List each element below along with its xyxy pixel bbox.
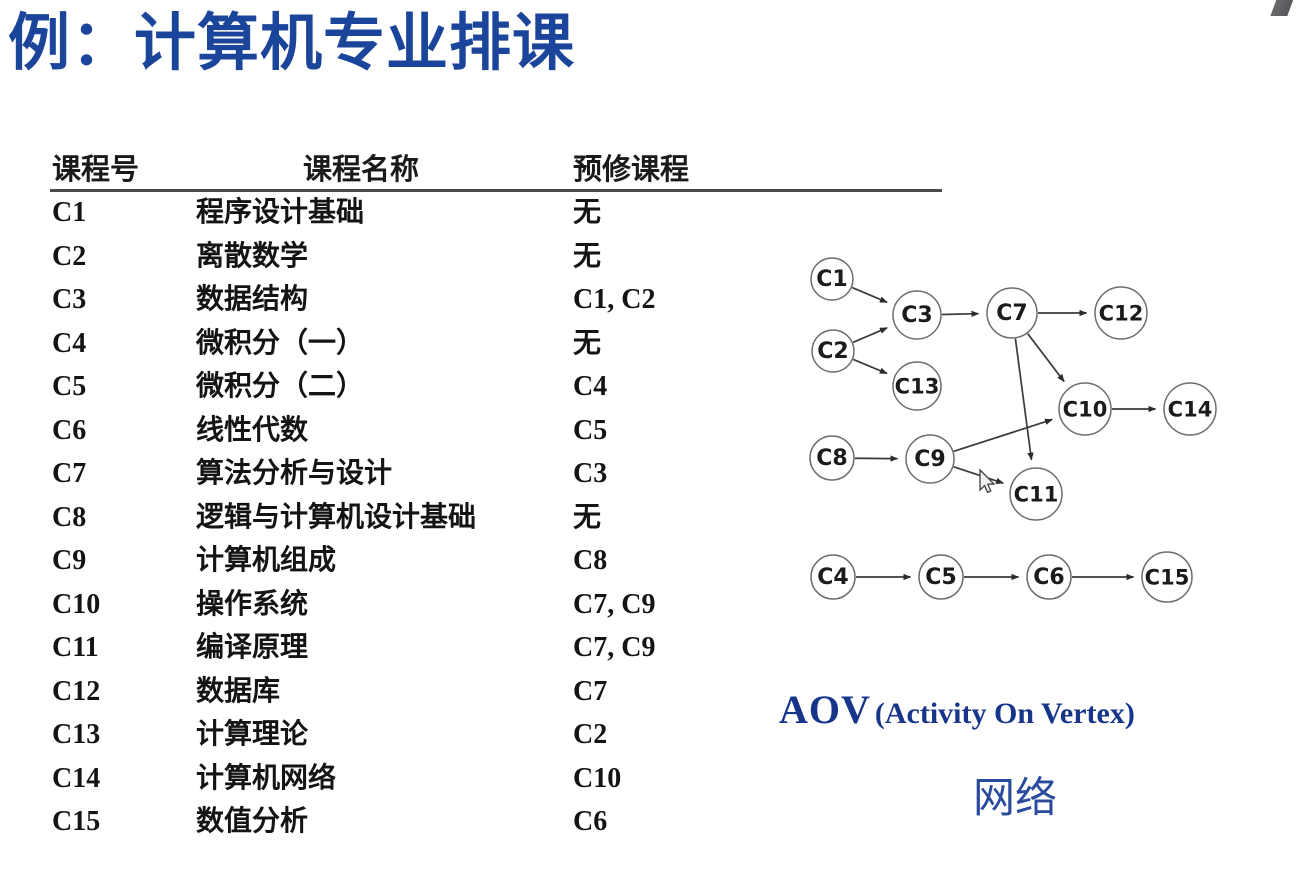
cell-prerequisite: 无 — [573, 242, 601, 272]
cell-course-name: 数据结构 — [196, 285, 308, 315]
node-label: C4 — [817, 565, 848, 590]
cell-course-name: 线性代数 — [196, 416, 308, 446]
cell-course-id: C6 — [52, 416, 86, 446]
cell-prerequisite: C7 — [573, 677, 607, 707]
cursor-arrow-icon — [980, 470, 994, 492]
cell-course-id: C4 — [52, 329, 86, 359]
node-label: C13 — [895, 375, 940, 399]
cell-course-id: C12 — [52, 677, 100, 707]
graph-edge-c2-to-c3 — [853, 328, 887, 343]
cell-course-name: 离散数学 — [196, 242, 308, 272]
aov-graph-svg: C1C2C3C13C7C12C10C14C8C9C11C4C5C6C15 — [780, 230, 1306, 630]
node-label: C7 — [996, 301, 1027, 326]
graph-node-c12[interactable]: C12 — [1095, 287, 1147, 339]
graph-node-c15[interactable]: C15 — [1142, 552, 1192, 602]
node-label: C14 — [1168, 398, 1213, 422]
cell-course-id: C1 — [52, 198, 86, 228]
cell-prerequisite: C7, C9 — [573, 633, 655, 663]
graph-edge-c9-to-c11 — [954, 467, 1004, 483]
cell-prerequisite: C1, C2 — [573, 285, 655, 315]
node-label: C5 — [925, 565, 956, 590]
column-header-course-id: 课程号 — [52, 146, 139, 188]
cell-course-id: C14 — [52, 764, 100, 794]
table-header-row: 课程号 课程名称 预修课程 — [50, 146, 942, 190]
node-label: C3 — [901, 303, 932, 328]
aov-expansion-text: (Activity On Vertex) — [875, 697, 1135, 730]
cell-course-id: C7 — [52, 459, 86, 489]
cell-course-name: 操作系统 — [196, 590, 308, 620]
graph-edge-c2-to-c13 — [853, 359, 887, 373]
node-label: C10 — [1063, 398, 1108, 422]
graph-node-c2[interactable]: C2 — [812, 330, 854, 372]
cell-course-id: C2 — [52, 242, 86, 272]
node-label: C11 — [1014, 483, 1059, 507]
cell-course-id: C11 — [52, 633, 99, 663]
cell-prerequisite: C7, C9 — [573, 590, 655, 620]
cell-course-id: C3 — [52, 285, 86, 315]
cell-prerequisite: 无 — [573, 329, 601, 359]
cell-prerequisite: C5 — [573, 416, 607, 446]
cell-course-id: C8 — [52, 503, 86, 533]
graph-edge-c3-to-c7 — [942, 314, 979, 315]
graph-node-c14[interactable]: C14 — [1164, 383, 1216, 435]
column-header-prerequisite: 预修课程 — [573, 146, 689, 188]
cell-course-id: C13 — [52, 720, 100, 750]
node-label: C9 — [914, 447, 945, 472]
graph-edge-c7-to-c10 — [1028, 334, 1064, 382]
cell-prerequisite: C6 — [573, 807, 607, 837]
graph-node-c5[interactable]: C5 — [919, 555, 963, 599]
aov-graph-diagram: C1C2C3C13C7C12C10C14C8C9C11C4C5C6C15 — [780, 230, 1306, 630]
cell-course-name: 计算机网络 — [196, 764, 336, 794]
node-label: C6 — [1033, 565, 1064, 590]
aov-abbreviation: AOV — [779, 687, 871, 732]
graph-edge-c7-to-c11 — [1015, 339, 1031, 460]
cell-course-name: 计算理论 — [196, 720, 308, 750]
mouse-cursor-icon — [980, 470, 994, 492]
cell-course-id: C9 — [52, 546, 86, 576]
network-caption: 网络 — [780, 764, 1250, 825]
cell-prerequisite: 无 — [573, 503, 601, 533]
graph-node-c8[interactable]: C8 — [810, 436, 854, 480]
graph-node-c7[interactable]: C7 — [987, 288, 1037, 338]
aov-caption: AOV (Activity On Vertex) — [779, 686, 1259, 733]
cell-course-name: 编译原理 — [196, 633, 308, 663]
cell-prerequisite: C2 — [573, 720, 607, 750]
cell-prerequisite: 无 — [573, 198, 601, 228]
page-title: 例：计算机专业排课 — [8, 6, 575, 84]
graph-node-c1[interactable]: C1 — [811, 258, 853, 300]
graph-node-layer: C1C2C3C13C7C12C10C14C8C9C11C4C5C6C15 — [810, 258, 1216, 602]
cell-course-name: 数值分析 — [196, 807, 308, 837]
cell-course-name: 微积分（一） — [196, 329, 364, 359]
table-header-divider — [50, 189, 942, 192]
cell-course-name: 数据库 — [196, 677, 280, 707]
node-label: C15 — [1145, 566, 1190, 590]
cell-course-name: 程序设计基础 — [196, 198, 364, 228]
graph-node-c3[interactable]: C3 — [893, 291, 941, 339]
cell-prerequisite: C8 — [573, 546, 607, 576]
cell-course-name: 逻辑与计算机设计基础 — [196, 503, 476, 533]
course-table: 课程号 课程名称 预修课程 C1程序设计基础无C2离散数学无C3数据结构C1, … — [50, 146, 942, 190]
cell-course-name: 算法分析与设计 — [196, 459, 392, 489]
graph-edge-c1-to-c3 — [852, 288, 887, 303]
node-label: C8 — [816, 446, 847, 471]
cell-course-name: 微积分（二） — [196, 372, 364, 402]
graph-node-c6[interactable]: C6 — [1027, 555, 1071, 599]
corner-artifact — [1262, 0, 1306, 16]
graph-node-c9[interactable]: C9 — [906, 435, 954, 483]
cell-course-id: C5 — [52, 372, 86, 402]
cell-prerequisite: C4 — [573, 372, 607, 402]
column-header-course-name: 课程名称 — [303, 146, 419, 188]
graph-node-c13[interactable]: C13 — [893, 362, 941, 410]
cell-course-id: C15 — [52, 807, 100, 837]
cell-course-id: C10 — [52, 590, 100, 620]
node-label: C1 — [816, 267, 847, 292]
table-row: C11编译原理C7, C9 — [50, 633, 942, 677]
cell-prerequisite: C3 — [573, 459, 607, 489]
graph-node-c11[interactable]: C11 — [1010, 468, 1062, 520]
cell-course-name: 计算机组成 — [196, 546, 336, 576]
node-label: C2 — [817, 339, 848, 364]
node-label: C12 — [1099, 302, 1144, 326]
cell-prerequisite: C10 — [573, 764, 621, 794]
graph-node-c10[interactable]: C10 — [1059, 383, 1111, 435]
graph-node-c4[interactable]: C4 — [811, 555, 855, 599]
graph-edge-c9-to-c10 — [954, 420, 1052, 452]
